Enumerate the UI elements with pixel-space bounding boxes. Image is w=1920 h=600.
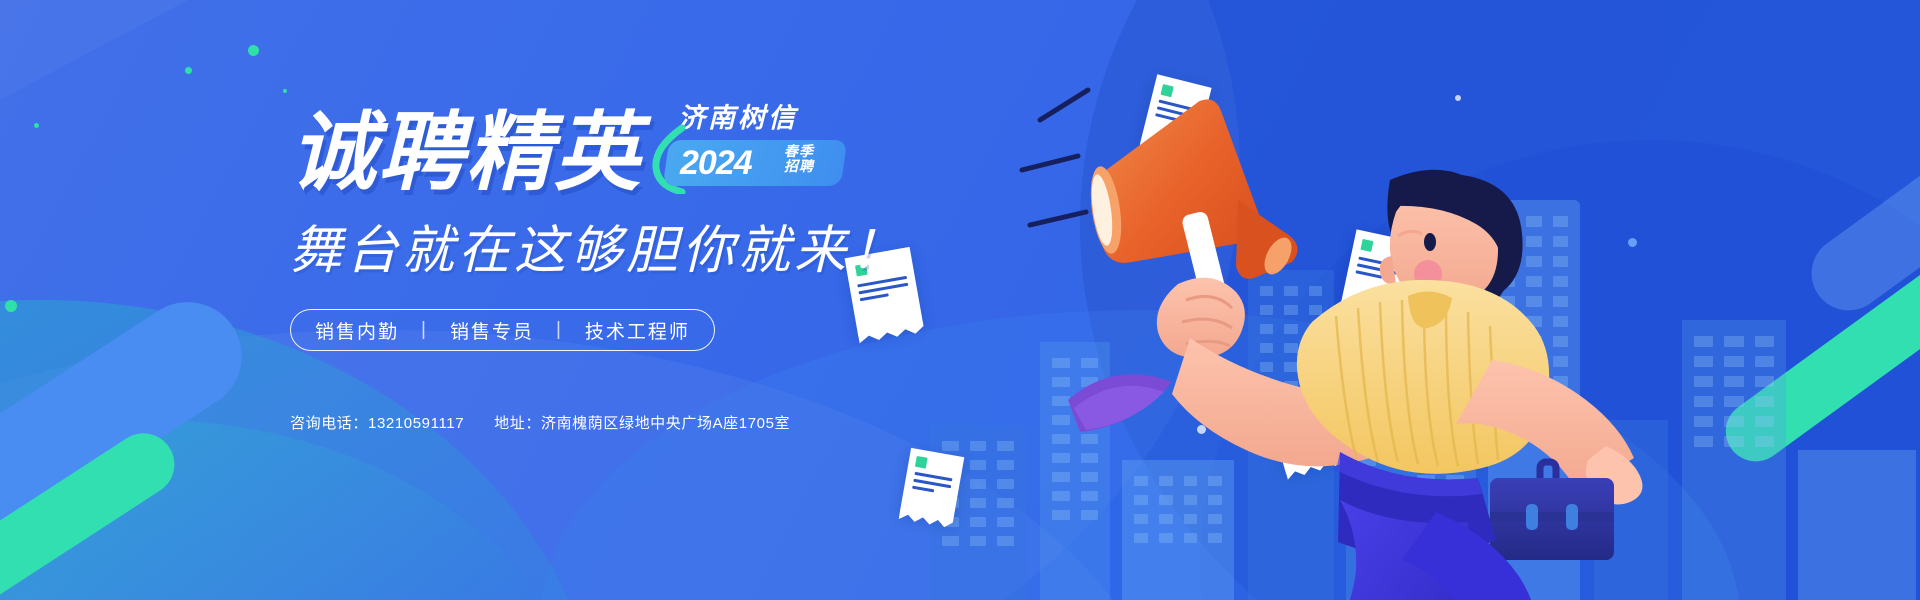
phone-label: 咨询电话： (290, 415, 368, 432)
decor-dot-green-5 (5, 300, 17, 312)
phone-value: 13210591117 (368, 415, 464, 432)
decor-dot-green-3 (283, 89, 287, 93)
recruitment-banner: 诚聘精英 济南树信 2024 春季 招聘 舞台就在这够胆你就来！ 销售内勤 | … (0, 0, 1920, 600)
job-tags-pill: 销售内勤 | 销售专员 | 技术工程师 (290, 309, 715, 351)
job-tag-2[interactable]: 技术工程师 (585, 317, 690, 344)
building (1682, 320, 1786, 600)
decor-dot-green-2 (185, 67, 192, 74)
decor-dot-green-4 (34, 123, 39, 128)
badge-season: 春季 招聘 (784, 144, 814, 174)
eye (1424, 233, 1436, 251)
page-subtitle: 舞台就在这够胆你就来！ (290, 208, 990, 283)
badge-year: 2024 (680, 144, 752, 183)
address-value: 济南槐荫区绿地中央广场A座1705室 (541, 415, 790, 432)
floating-paper (900, 448, 965, 522)
banner-text-content: 诚聘精英 济南树信 2024 春季 招聘 舞台就在这够胆你就来！ 销售内勤 | … (290, 96, 990, 351)
page-title: 诚聘精英 (290, 110, 642, 196)
job-tag-1[interactable]: 销售专员 (450, 317, 534, 344)
address-label: 地址： (494, 415, 541, 432)
badge-season-line-2: 招聘 (784, 159, 814, 174)
contact-info: 咨询电话：13210591117地址：济南槐荫区绿地中央广场A座1705室 (290, 412, 790, 433)
badge-season-line-1: 春季 (784, 144, 814, 159)
tag-separator: | (421, 319, 428, 341)
recruitment-badge: 济南树信 2024 春季 招聘 (656, 96, 856, 192)
headline-row: 诚聘精英 济南树信 2024 春季 招聘 (290, 96, 990, 196)
decor-dot-green-1 (248, 45, 259, 56)
building (1798, 450, 1916, 600)
person-with-megaphone-illustration (1040, 60, 1600, 600)
tag-separator: | (556, 319, 563, 341)
company-name: 济南树信 (678, 96, 798, 135)
job-tag-0[interactable]: 销售内勤 (315, 317, 399, 344)
